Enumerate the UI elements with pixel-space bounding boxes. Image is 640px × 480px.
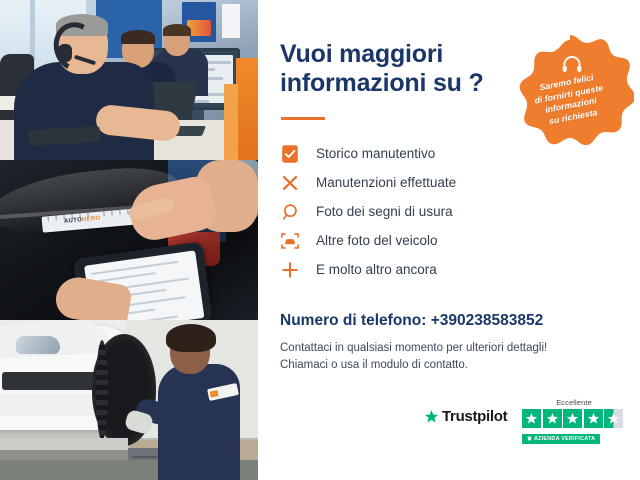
car-bumper — [0, 394, 106, 416]
list-item: Altre foto del veicolo — [279, 228, 579, 257]
list-item-label: Foto dei segni di usura — [316, 202, 453, 221]
autohero-info-banner: AUTOHERO — [0, 0, 640, 480]
feature-list: Storico manutentivo Manutenzioni effettu… — [279, 141, 579, 286]
status-badge: AZIENDA VERIFICATA — [522, 434, 600, 444]
call-center-agents-photo — [0, 0, 258, 160]
plus-icon — [279, 259, 301, 281]
rating-star-1 — [522, 409, 541, 428]
shield-check-icon — [527, 436, 532, 441]
trustpilot-star-icon — [424, 409, 439, 424]
autohero-logo-mark: AUTOHERO — [64, 216, 101, 225]
magnifier-icon — [279, 201, 301, 223]
agent-two-hair — [121, 30, 155, 44]
trustpilot-logo[interactable]: Trustpilot — [424, 408, 507, 425]
wrench-cross-icon — [279, 172, 301, 194]
tyre-tread — [96, 340, 108, 440]
verified-label: AZIENDA VERIFICATA — [534, 436, 595, 442]
contact-note: Contattaci in qualsiasi momento per ulte… — [280, 340, 547, 374]
list-item-label: Storico manutentivo — [316, 144, 435, 163]
mechanic-wheel-inspection-photo — [0, 320, 258, 480]
list-item: E molto altro ancora — [279, 257, 579, 286]
list-item-label: Manutenzioni effettuate — [316, 173, 456, 192]
car-scan-frame-icon — [279, 230, 301, 252]
list-item-label: Altre foto del veicolo — [316, 231, 438, 250]
rating-star-2 — [543, 409, 562, 428]
agent-three-hair — [163, 24, 191, 36]
headset-earcup — [58, 44, 72, 62]
rating-star-5-half — [604, 409, 623, 428]
orange-divider-panel — [236, 58, 258, 160]
rating-stars — [522, 409, 626, 428]
orange-accent-panel — [224, 84, 238, 160]
rating-caption: Eccellente — [522, 398, 626, 408]
car-lift-shadow — [0, 450, 128, 460]
contact-note-line-1: Contattaci in qualsiasi momento per ulte… — [280, 340, 547, 357]
title-underline-accent — [281, 117, 325, 120]
rating-star-4 — [584, 409, 603, 428]
wall-notice — [222, 4, 240, 38]
trustpilot-wordmark: Trustpilot — [442, 408, 507, 425]
list-item-label: E molto altro ancora — [316, 260, 437, 279]
list-item: Manutenzioni effettuate — [279, 170, 579, 199]
info-on-request-badge: Saremo felici di fornirti queste informa… — [506, 33, 634, 159]
contact-note-line-2: Chiamaci o usa il modulo di contatto. — [280, 357, 547, 374]
phone-number-label[interactable]: Numero di telefono: +390238583852 — [280, 312, 543, 330]
list-item: Foto dei segni di usura — [279, 199, 579, 228]
trustpilot-rating: Eccellente AZIENDA VERIFICATA — [522, 398, 626, 446]
car-grille — [2, 372, 98, 390]
checkbox-checked-icon — [279, 143, 301, 165]
page-title: Vuoi maggiori informazioni su ? — [280, 40, 520, 98]
trustpilot-widget[interactable]: Trustpilot Eccellente AZIENDA VERIFICATA — [420, 398, 626, 444]
rating-star-3 — [563, 409, 582, 428]
photo-column: AUTOHERO — [0, 0, 258, 480]
mechanic-hair — [166, 324, 216, 352]
car-inspection-ruler-photo: AUTOHERO — [0, 160, 258, 320]
car-headlight — [16, 336, 60, 354]
